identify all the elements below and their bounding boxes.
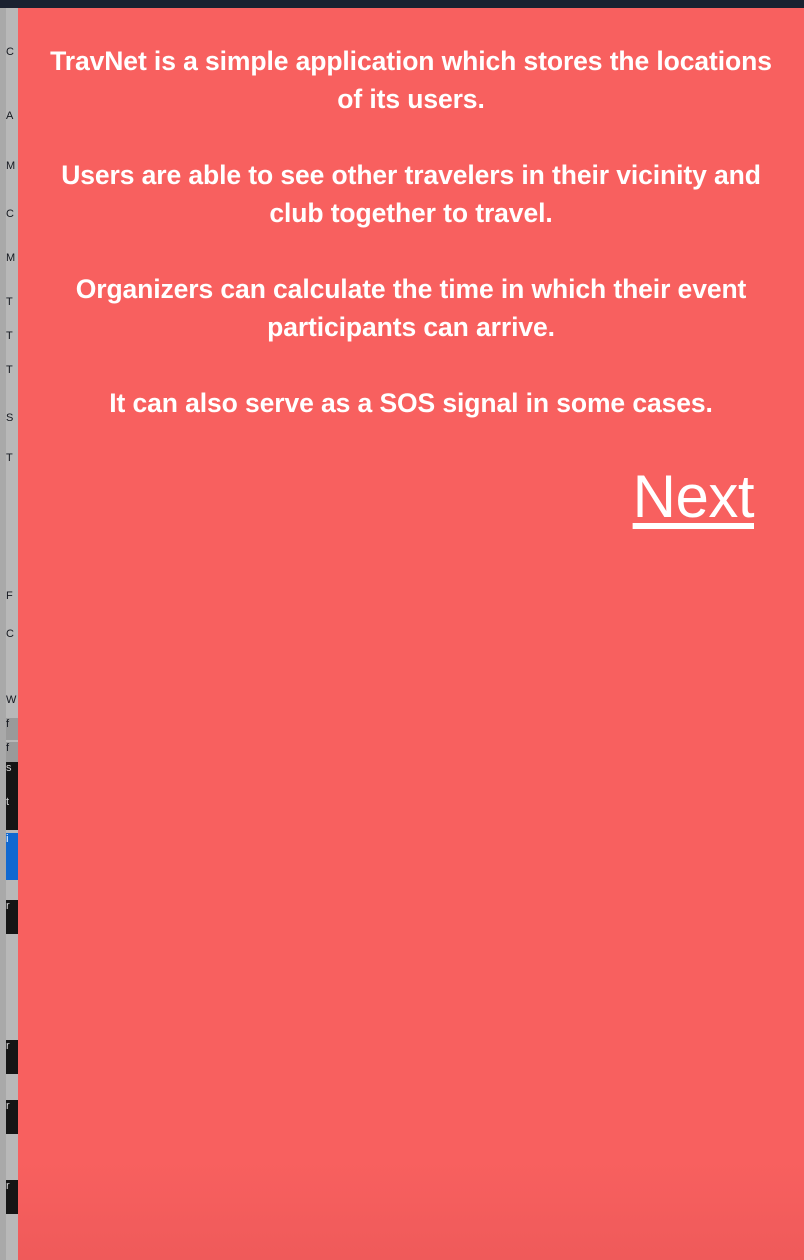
- travnet-intro-screen: TravNet is a simple application which st…: [18, 8, 804, 1260]
- sidebar-list-item[interactable]: A: [6, 110, 18, 122]
- sidebar-list-item[interactable]: T: [6, 364, 18, 376]
- intro-paragraph-4: It can also serve as a SOS signal in som…: [44, 384, 778, 422]
- sidebar-list-item[interactable]: T: [6, 296, 18, 308]
- sidebar-list-item[interactable]: r: [6, 1100, 18, 1134]
- sidebar-list-item[interactable]: C: [6, 628, 18, 640]
- sidebar-list-item[interactable]: t: [6, 796, 18, 830]
- sidebar-list-item[interactable]: r: [6, 900, 18, 934]
- app-window: CAMCMTTTSTFCWffstirrrr TravNet is a simp…: [0, 0, 804, 1260]
- sidebar-list-item[interactable]: C: [6, 46, 18, 58]
- next-row: Next: [44, 464, 778, 530]
- ide-sidebar[interactable]: CAMCMTTTSTFCWffstirrrr: [0, 0, 18, 1260]
- sidebar-list-item[interactable]: W: [6, 694, 18, 706]
- intro-paragraph-3: Organizers can calculate the time in whi…: [44, 270, 778, 346]
- sidebar-list-item[interactable]: r: [6, 1180, 18, 1214]
- sidebar-list-item[interactable]: T: [6, 452, 18, 464]
- sidebar-list-item[interactable]: M: [6, 252, 18, 264]
- sidebar-list-item[interactable]: i: [6, 833, 18, 880]
- next-link[interactable]: Next: [633, 464, 754, 530]
- sidebar-list-item[interactable]: T: [6, 330, 18, 342]
- sidebar-list-item[interactable]: M: [6, 160, 18, 172]
- sidebar-list-item[interactable]: C: [6, 208, 18, 220]
- window-title-bar: [0, 0, 804, 8]
- sidebar-list-item[interactable]: F: [6, 590, 18, 602]
- sidebar-list-item[interactable]: f: [6, 742, 18, 764]
- sidebar-list-item[interactable]: f: [6, 718, 18, 740]
- sidebar-list-item[interactable]: s: [6, 762, 18, 796]
- intro-paragraph-1: TravNet is a simple application which st…: [44, 42, 778, 118]
- sidebar-list-item[interactable]: r: [6, 1040, 18, 1074]
- intro-content: TravNet is a simple application which st…: [18, 8, 804, 530]
- intro-paragraph-2: Users are able to see other travelers in…: [44, 156, 778, 232]
- sidebar-list-item[interactable]: S: [6, 412, 18, 424]
